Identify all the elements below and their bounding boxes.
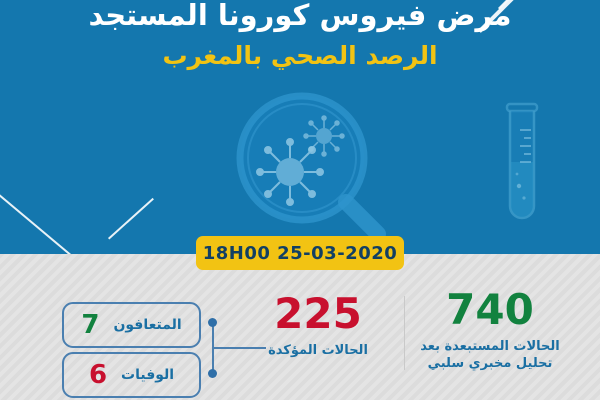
page-title: مرض فيروس كورونا المستجد [0,0,600,34]
magnifier-with-virus-icon [228,92,408,242]
test-tube-icon [500,100,544,230]
stat-excluded-cases: 740 الحالات المستبعدة بعد تحليل مخبري سل… [400,288,580,372]
stat-label-excluded: الحالات المستبعدة بعد تحليل مخبري سلبي [400,338,580,372]
infographic-poster: مرض فيروس كورونا المستجد الرصد الصحي بال… [0,0,600,400]
header-panel: مرض فيروس كورونا المستجد الرصد الصحي بال… [0,0,600,254]
stat-value-excluded: 740 [400,288,580,332]
stat-value-confirmed: 225 [248,292,388,336]
bracket-dot-bottom [208,369,217,378]
stat-label-recovered: المتعافون [113,317,181,333]
stat-label-excluded-line2: تحليل مخبري سلبي [400,355,580,372]
stat-value-deaths: 6 [89,362,107,388]
stat-confirmed-cases: 225 الحالات المؤكدة [248,292,388,359]
stat-value-recovered: 7 [81,312,99,338]
page-subtitle: الرصد الصحي بالمغرب [0,38,600,74]
stat-label-confirmed: الحالات المؤكدة [248,342,388,359]
stat-box-deaths: الوفيات 6 [62,352,201,398]
date-badge: 18H00 25-03-2020 [196,236,404,270]
bracket-dot-top [208,318,217,327]
left-accent-line-1 [0,186,155,254]
left-accent-line-2 [108,198,154,240]
stat-label-deaths: الوفيات [121,367,174,383]
stat-box-recovered: المتعافون 7 [62,302,201,348]
stat-label-excluded-line1: الحالات المستبعدة بعد [400,338,580,355]
